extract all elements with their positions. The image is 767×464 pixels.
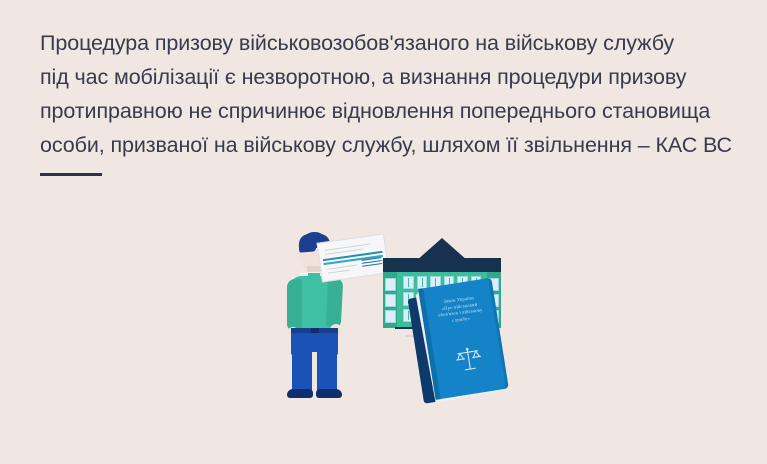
- building-window: [385, 310, 396, 323]
- illustration: Призовник Повістка: [255, 210, 525, 405]
- building-window: [403, 276, 414, 289]
- person-label: Призовник: [275, 232, 276, 233]
- person-shoe-left: [287, 389, 313, 398]
- headline-divider: [40, 173, 102, 176]
- building-window: [385, 294, 396, 307]
- person-arm-left: [287, 279, 302, 331]
- page-title: Процедура призову військовозобов'язаного…: [40, 26, 745, 162]
- building-label: Територіальний центр комплектування: [383, 238, 384, 239]
- person-shoe-right: [316, 389, 342, 398]
- person-hair-fringe: [299, 242, 317, 252]
- headline-block: Процедура призову військовозобов'язаного…: [40, 26, 745, 162]
- person-ear: [297, 252, 303, 260]
- building-cornice: [383, 266, 501, 272]
- envelope-line: [328, 270, 350, 274]
- building-window: [385, 278, 396, 291]
- scales-of-justice-icon: [452, 342, 486, 376]
- banner-image: Процедура призову військовозобов'язаного…: [0, 0, 767, 464]
- law-book-illustration: Закон України «Про військовий обов'язок …: [406, 276, 517, 407]
- envelope-line: [327, 265, 357, 270]
- envelope-paper: [317, 233, 390, 282]
- building-pediment: [416, 238, 468, 261]
- envelope-stamp: [361, 257, 382, 271]
- envelope-icon: Повістка: [317, 233, 390, 282]
- person-arm-right: [326, 278, 344, 329]
